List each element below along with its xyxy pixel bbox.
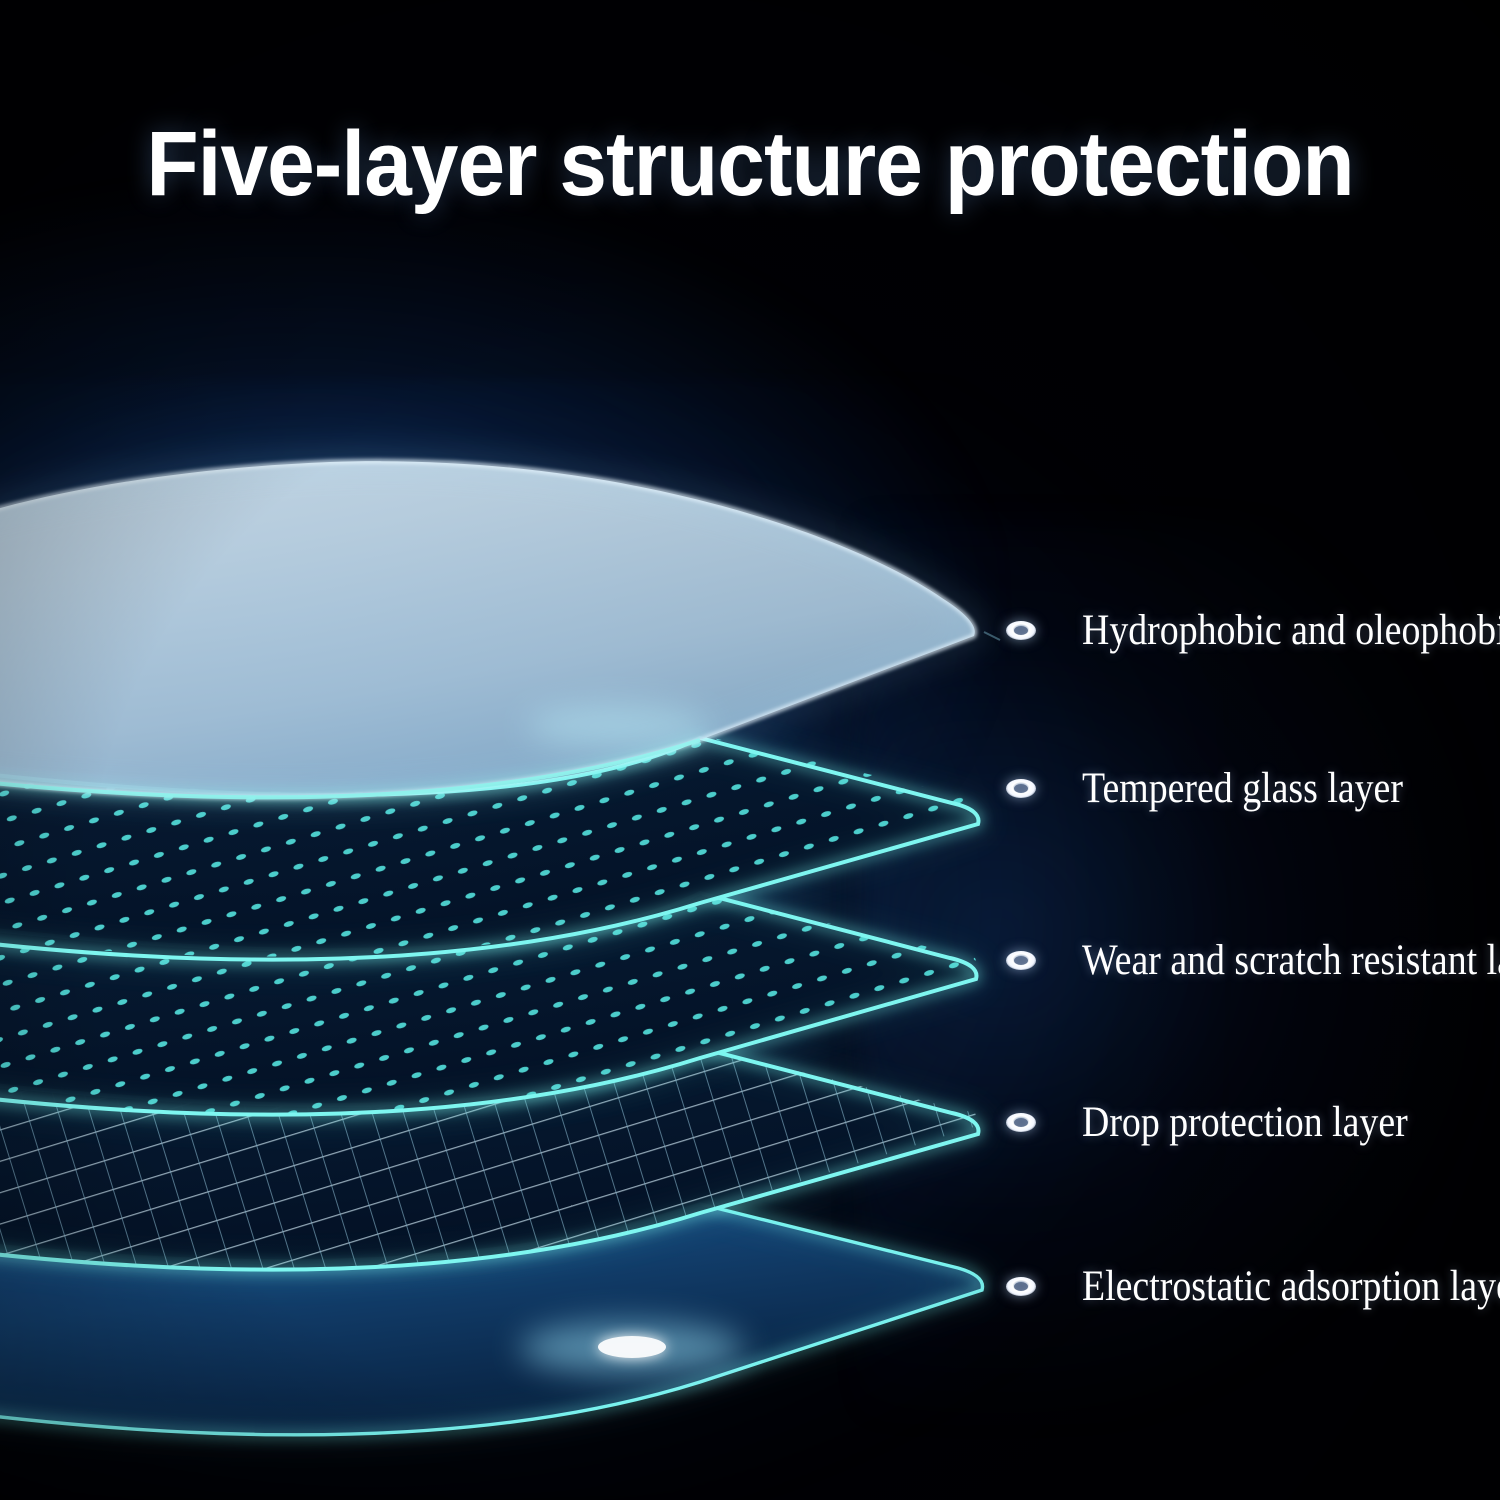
callout-wear-and-scratch-resistant-layer[interactable]: Wear and scratch resistant layer <box>1006 938 1500 982</box>
ellipse-bullet-icon <box>1006 1113 1036 1132</box>
callout-label: Wear and scratch resistant layer <box>1082 939 1500 982</box>
callout-label: Electrostatic adsorption layer <box>1082 1265 1500 1308</box>
callout-label: Drop protection layer <box>1082 1101 1408 1144</box>
ellipse-bullet-icon <box>1006 621 1036 640</box>
callout-tempered-glass-layer[interactable]: Tempered glass layer <box>1006 766 1447 810</box>
callout-electrostatic-adsorption-layer[interactable]: Electrostatic adsorption layer <box>1006 1264 1500 1308</box>
diagram-canvas: Five-layer structure protection Hydropho… <box>0 0 1500 1500</box>
sheet-hydrophobic-oleophobic <box>0 461 1000 797</box>
callout-hydrophobic-oleophobic-layer[interactable]: Hydrophobic and oleophobic layer <box>1006 608 1500 652</box>
callout-label: Hydrophobic and oleophobic layer <box>1082 609 1500 652</box>
callout-drop-protection-layer[interactable]: Drop protection layer <box>1006 1100 1452 1144</box>
ellipse-bullet-icon <box>1006 1277 1036 1296</box>
callout-label: Tempered glass layer <box>1082 767 1403 810</box>
page-title: Five-layer structure protection <box>53 112 1448 217</box>
ellipse-bullet-icon <box>1006 951 1036 970</box>
ellipse-bullet-icon <box>1006 779 1036 798</box>
